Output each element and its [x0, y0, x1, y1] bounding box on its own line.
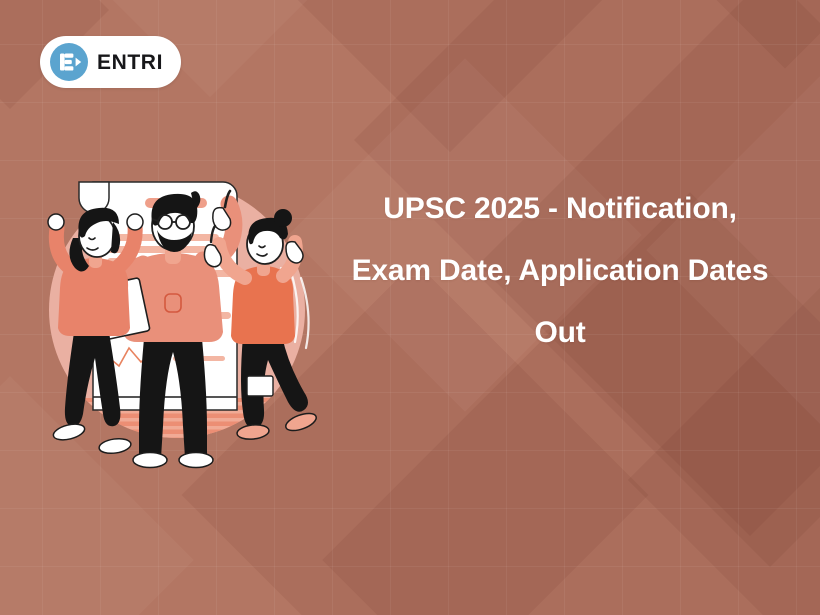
- small-paper: [247, 376, 273, 396]
- page-title: UPSC 2025 - Notification, Exam Date, App…: [300, 178, 820, 364]
- title-line: Exam Date, Application Dates: [300, 240, 820, 302]
- title-line: UPSC 2025 - Notification,: [300, 178, 820, 240]
- title-line: Out: [300, 302, 820, 364]
- entri-e-play-icon: [50, 43, 88, 81]
- three-people-celebrating-document-illustration: [45, 160, 325, 460]
- entri-wordmark: ENTRI: [97, 52, 163, 73]
- entri-logo[interactable]: ENTRI: [40, 36, 181, 88]
